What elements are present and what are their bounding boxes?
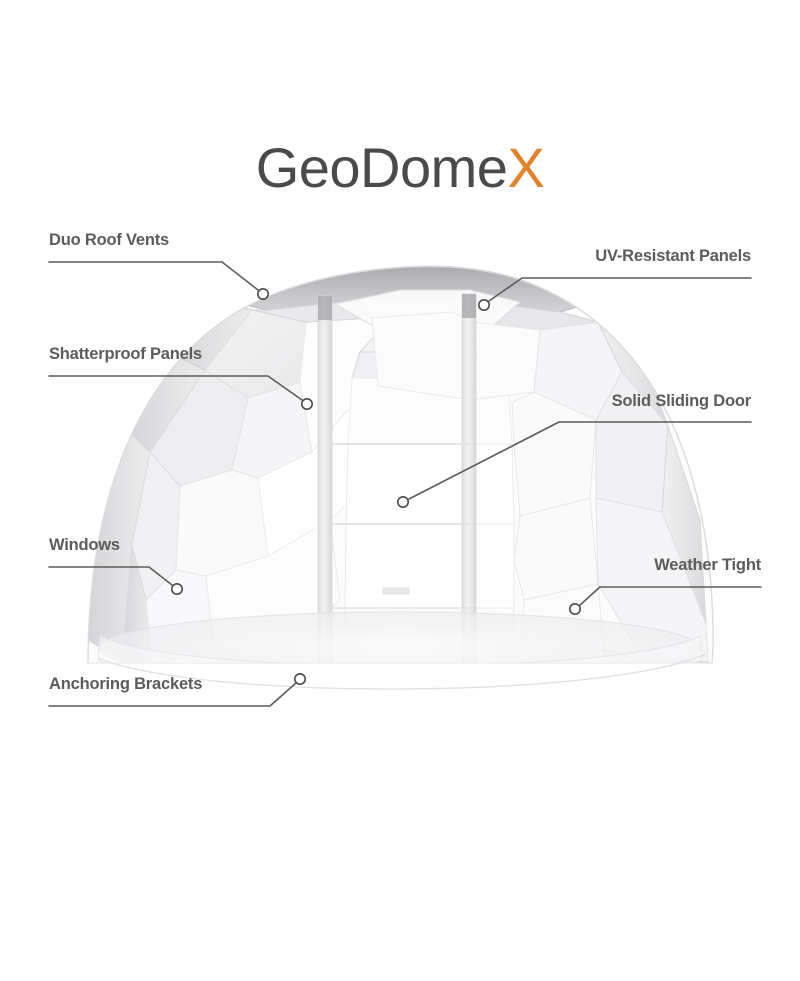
callout-leader-lines xyxy=(0,0,800,981)
leader-uv-resistant-panels xyxy=(479,278,751,310)
leader-shatterproof-panels xyxy=(49,376,312,409)
leader-solid-sliding-door xyxy=(398,422,751,507)
callout-label-anchoring-brackets[interactable]: Anchoring Brackets xyxy=(49,676,202,693)
leader-endpoint-dot xyxy=(398,497,408,507)
leader-windows xyxy=(49,567,182,594)
leader-path xyxy=(489,278,751,301)
leader-path xyxy=(49,567,172,585)
leader-endpoint-dot xyxy=(295,674,305,684)
leader-path xyxy=(409,422,751,499)
leader-path xyxy=(49,376,302,400)
callout-label-weather-tight[interactable]: Weather Tight xyxy=(654,557,761,574)
product-diagram-page: GeoDomeX xyxy=(0,0,800,981)
leader-endpoint-dot xyxy=(258,289,268,299)
leader-endpoint-dot xyxy=(570,604,580,614)
callout-label-solid-sliding-door[interactable]: Solid Sliding Door xyxy=(612,393,751,410)
callout-label-duo-roof-vents[interactable]: Duo Roof Vents xyxy=(49,232,169,249)
leader-endpoint-dot xyxy=(302,399,312,409)
leader-path xyxy=(580,587,761,605)
leader-endpoint-dot xyxy=(172,584,182,594)
callout-label-shatterproof-panels[interactable]: Shatterproof Panels xyxy=(49,346,202,363)
leader-endpoint-dot xyxy=(479,300,489,310)
callout-label-windows[interactable]: Windows xyxy=(49,537,120,554)
leader-path xyxy=(49,262,258,290)
leader-duo-roof-vents xyxy=(49,262,268,299)
callout-label-uv-resistant-panels[interactable]: UV-Resistant Panels xyxy=(595,248,751,265)
dome-diagram: Duo Roof Vents Shatterproof Panels Windo… xyxy=(0,0,800,981)
leader-weather-tight xyxy=(570,587,761,614)
